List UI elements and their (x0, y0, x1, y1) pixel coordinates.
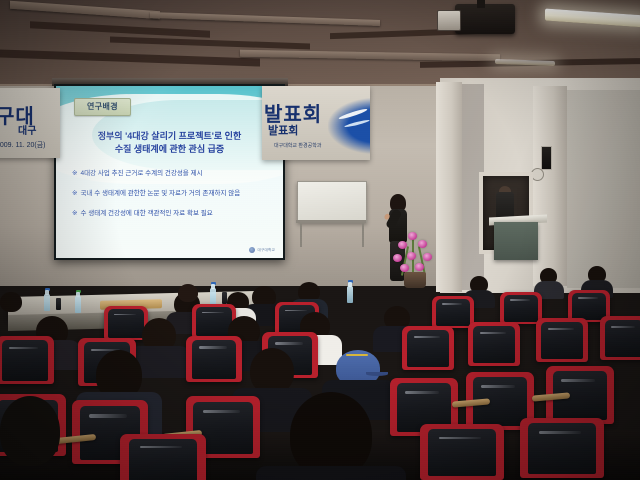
lecture-hall-photo: 연구배경 정부의 '4대강 살리기 프로젝트'로 인한 수질 생태계에 관한 관… (0, 0, 640, 480)
seat-back (428, 429, 495, 476)
bullet-marker: ※ (72, 210, 77, 217)
seat-back (192, 340, 237, 379)
auditorium-seat[interactable] (468, 322, 520, 366)
whiteboard-tray (296, 220, 366, 223)
seat-sheen (561, 379, 595, 382)
water-bottle (347, 286, 353, 303)
orchid-bloom (407, 252, 416, 260)
projection-screen: 연구배경 정부의 '4대강 살리기 프로젝트'로 인한 수질 생태계에 관한 관… (54, 84, 285, 260)
projector-lens (437, 10, 461, 31)
whiteboard-leg (362, 223, 364, 247)
ceiling-panel (240, 50, 500, 62)
person-head (0, 396, 60, 466)
bullet-marker: ※ (72, 170, 77, 177)
seat-back (504, 295, 538, 322)
seat-sheen (539, 431, 581, 434)
auditorium-seat[interactable] (0, 336, 54, 384)
person-shoulders (256, 466, 406, 480)
projector-mount (477, 0, 485, 8)
orchid-plant (390, 228, 440, 288)
seat-sheen (275, 342, 303, 344)
seat-sheen (548, 328, 574, 330)
banner-left: 구대 대구 2009. 11. 20(금) (0, 88, 60, 158)
ceiling-panel (150, 12, 380, 26)
seat-sheen (414, 336, 440, 338)
ceiling-projector (455, 4, 515, 34)
podium (494, 222, 538, 260)
auditorium-seat[interactable] (186, 336, 242, 382)
seat-back (196, 307, 231, 336)
slide-title: 정부의 '4대강 살리기 프로젝트'로 인한 수질 생태계에 관한 관심 급증 (66, 130, 273, 156)
ceiling-slot (110, 37, 310, 50)
seat-back (528, 423, 595, 473)
seat-back (108, 309, 143, 338)
ceiling-slot (30, 21, 210, 37)
water-bottle (75, 296, 81, 313)
ceiling-light (545, 9, 640, 28)
slide-section-tab: 연구배경 (74, 98, 131, 116)
seat-back (572, 293, 606, 320)
seat-sheen (578, 297, 599, 299)
orchid-bloom (418, 240, 427, 248)
slide-bullet: ※수 생태계 건강성에 대한 객관적인 자료 확보 필요 (72, 210, 272, 218)
banner-right-org: 대구대학교 환경공학과 (274, 142, 321, 149)
seat-sheen (285, 310, 307, 312)
seat-sheen (199, 346, 227, 348)
bullet-text: 4대강 사업 추진 근거로 수계의 건강성을 제시 (80, 170, 202, 177)
slide-bullet: ※4대강 사업 추진 근거로 수계의 건강성을 제시 (72, 170, 272, 178)
whiteboard (297, 181, 367, 223)
orchid-bloom (400, 264, 409, 272)
orchid-bloom (398, 241, 407, 249)
seat-sheen (203, 410, 240, 413)
auditorium-seat[interactable] (120, 434, 206, 480)
presentation-slide: 연구배경 정부의 '4대강 살리기 프로젝트'로 인한 수질 생태계에 관한 관… (56, 86, 283, 258)
ceiling-slot (0, 49, 260, 66)
bullet-marker: ※ (72, 190, 77, 197)
seat-back (473, 326, 515, 363)
seat-sheen (202, 312, 224, 314)
seat-sheen (442, 303, 463, 305)
seat-sheen (611, 326, 635, 328)
cap-brim (366, 372, 388, 376)
seat-back (541, 322, 583, 359)
banner-right: 발표회 발표회 대구대학교 환경공학과 (262, 86, 370, 160)
slide-logo-text: 대구대학교 (257, 248, 275, 253)
slide-title-line-1: 정부의 '4대강 살리기 프로젝트'로 인한 (66, 130, 273, 143)
seat-sheen (481, 385, 515, 388)
presenter-hand (383, 213, 390, 221)
seat-sheen (89, 414, 127, 417)
seat-sheen (9, 347, 38, 349)
orchid-bloom (393, 254, 402, 262)
slide-footer-logo: 대구대학교 (249, 247, 275, 253)
beverage-can (56, 298, 61, 310)
bullet-text: 수 생태계 건강성에 대한 객관적인 자료 확보 필요 (80, 210, 212, 217)
wall-column (533, 86, 567, 286)
seat-sheen (480, 332, 506, 334)
cap-stripe (346, 354, 368, 356)
water-bottle (210, 288, 216, 305)
seat-back (407, 330, 449, 367)
person-head (178, 284, 198, 302)
auditorium-seat[interactable] (402, 326, 454, 370)
seat-sheen (140, 446, 183, 449)
orchid-bloom (423, 253, 432, 261)
auditorium-seat[interactable] (420, 424, 504, 480)
seat-back (605, 320, 640, 357)
slide-bullet-list: ※4대강 사업 추진 근거로 수계의 건강성을 제시 ※국내 수 생태계에 관한… (72, 170, 272, 230)
slide-title-line-2: 수질 생태계에 관한 관심 급증 (66, 143, 273, 156)
auditorium-seat[interactable] (600, 316, 640, 360)
auditorium-seat[interactable] (432, 296, 474, 328)
person-head (0, 292, 22, 312)
auditorium-seat[interactable] (536, 318, 588, 362)
seat-back (436, 299, 470, 326)
orchid-bloom (415, 263, 424, 271)
seat-sheen (510, 299, 531, 301)
university-logo-icon (249, 247, 255, 253)
banner-left-subtitle: 대구 (18, 122, 36, 137)
banner-right-subtitle: 발표회 (268, 122, 298, 138)
ceiling-panel (10, 1, 160, 19)
orchid-bloom (408, 232, 417, 240)
banner-swoosh-icon (328, 98, 370, 154)
seat-back (2, 340, 48, 380)
whiteboard-leg (300, 223, 302, 247)
wall-speaker (541, 146, 552, 170)
seat-sheen (114, 314, 136, 316)
wall-shadow (567, 90, 640, 288)
orchid-pot (404, 272, 426, 288)
bullet-text: 국내 수 생태계에 관한한 논문 및 자료가 거의 존재하지 않음 (80, 190, 240, 197)
seat-back (129, 439, 198, 480)
seat-sheen (405, 391, 439, 394)
slide-bullet: ※국내 수 생태계에 관한한 논문 및 자료가 거의 존재하지 않음 (72, 190, 272, 198)
auditorium-seat[interactable] (520, 418, 604, 478)
banner-left-date: 2009. 11. 20(금) (0, 140, 46, 150)
auditorium-seat[interactable] (500, 292, 542, 324)
seat-sheen (439, 437, 481, 440)
water-bottle (44, 294, 50, 311)
